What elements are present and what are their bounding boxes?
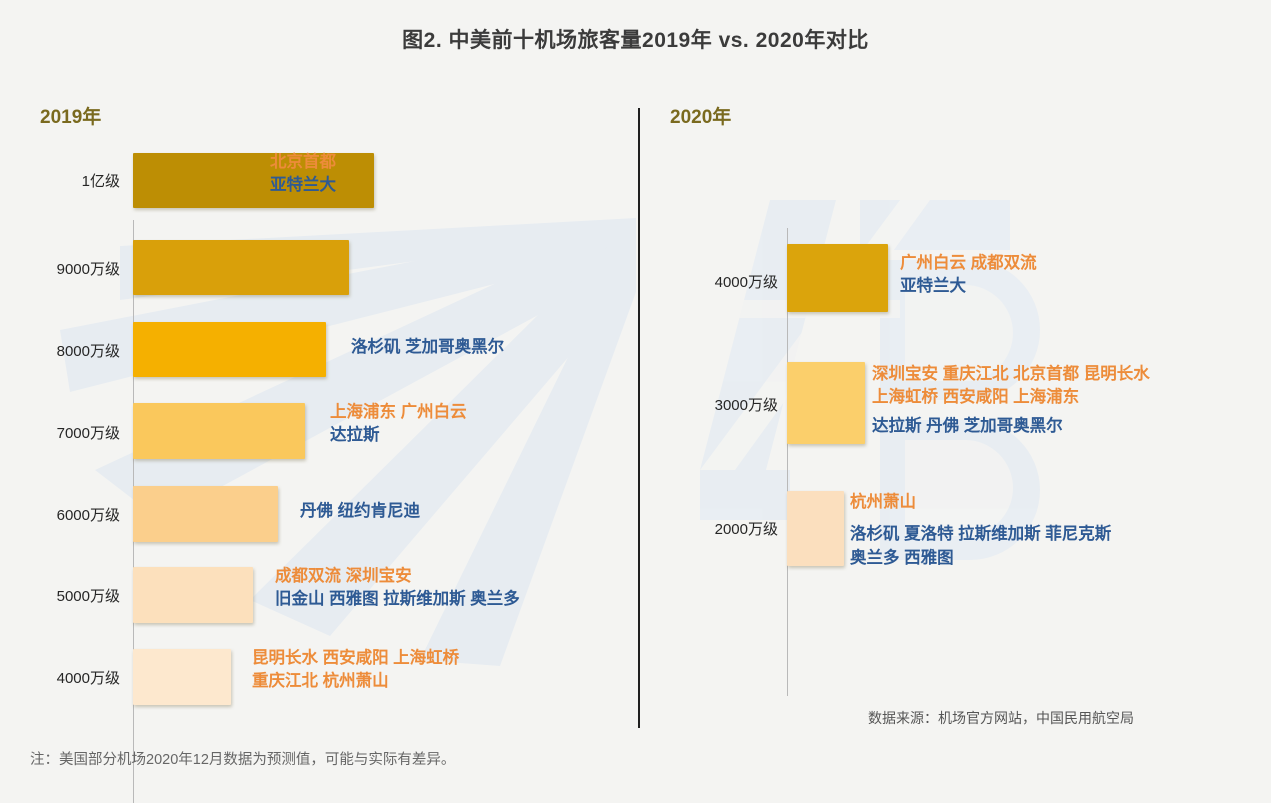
bar xyxy=(133,403,305,459)
airport-line: 旧金山 西雅图 拉斯维加斯 奥兰多 xyxy=(275,588,520,611)
bar xyxy=(133,649,231,705)
airport-names: 洛杉矶 芝加哥奥黑尔 xyxy=(351,336,504,359)
category-label: 2000万级 xyxy=(648,518,778,539)
airport-names: 昆明长水 西安咸阳 上海虹桥 重庆江北 杭州萧山 xyxy=(252,647,459,694)
airport-line: 亚特兰大 xyxy=(900,275,1037,298)
airport-line: 达拉斯 xyxy=(330,424,467,447)
airport-line: 上海虹桥 西安咸阳 上海浦东 xyxy=(872,386,1150,409)
airport-names: 成都双流 深圳宝安 旧金山 西雅图 拉斯维加斯 奥兰多 xyxy=(275,565,520,612)
bar xyxy=(133,486,278,542)
airport-line: 成都双流 深圳宝安 xyxy=(275,565,520,588)
panel-2019-header: 2019年 xyxy=(40,102,101,129)
footnote-label: 注：美国部分机场2020年12月数据为预测值，可能与实际有差异。 xyxy=(30,748,455,769)
airport-line: 达拉斯 丹佛 芝加哥奥黑尔 xyxy=(872,415,1150,438)
airport-line: 昆明长水 西安咸阳 上海虹桥 xyxy=(252,647,459,670)
bar xyxy=(133,567,253,623)
category-label: 5000万级 xyxy=(0,585,120,606)
airport-names: 深圳宝安 重庆江北 北京首都 昆明长水 上海虹桥 西安咸阳 上海浦东 达拉斯 丹… xyxy=(872,363,1150,438)
airport-line: 奥兰多 西雅图 xyxy=(850,547,1111,570)
airport-line: 广州白云 成都双流 xyxy=(900,252,1037,275)
airport-names: 杭州萧山 洛杉矶 夏洛特 拉斯维加斯 菲尼克斯 奥兰多 西雅图 xyxy=(850,491,1111,570)
panel-2019: 2019年 1亿级 北京首都 亚特兰大 9000万级 8000万级 洛杉矶 芝加… xyxy=(0,88,638,728)
airport-line: 深圳宝安 重庆江北 北京首都 昆明长水 xyxy=(872,363,1150,386)
bar xyxy=(787,362,865,444)
airport-line: 丹佛 纽约肯尼迪 xyxy=(300,500,420,523)
airport-line: 洛杉矶 芝加哥奥黑尔 xyxy=(351,336,504,359)
bar xyxy=(787,491,844,566)
bar xyxy=(133,322,326,377)
panel-2020-header: 2020年 xyxy=(670,102,731,129)
category-label: 7000万级 xyxy=(0,422,120,443)
category-label: 6000万级 xyxy=(0,504,120,525)
airport-line: 洛杉矶 夏洛特 拉斯维加斯 菲尼克斯 xyxy=(850,523,1111,546)
category-label: 4000万级 xyxy=(648,271,778,292)
airport-line: 重庆江北 杭州萧山 xyxy=(252,670,459,693)
bar xyxy=(787,244,888,312)
category-label: 9000万级 xyxy=(0,258,120,279)
airport-line: 上海浦东 广州白云 xyxy=(330,401,467,424)
category-label: 3000万级 xyxy=(648,394,778,415)
airport-line: 杭州萧山 xyxy=(850,491,1111,514)
airport-names: 上海浦东 广州白云 达拉斯 xyxy=(330,401,467,448)
airport-names: 北京首都 亚特兰大 xyxy=(270,151,336,198)
category-label: 1亿级 xyxy=(0,170,120,191)
page-title: 图2. 中美前十机场旅客量2019年 vs. 2020年对比 xyxy=(0,24,1271,54)
airport-names: 丹佛 纽约肯尼迪 xyxy=(300,500,420,523)
category-label: 8000万级 xyxy=(0,340,120,361)
airport-names: 广州白云 成都双流 亚特兰大 xyxy=(900,252,1037,299)
bar xyxy=(133,240,349,295)
category-label: 4000万级 xyxy=(0,667,120,688)
data-source-label: 数据来源：机场官方网站，中国民用航空局 xyxy=(868,708,1134,728)
panel-2020: 2020年 4000万级 广州白云 成都双流 亚特兰大 3000万级 深圳宝安 … xyxy=(638,88,1271,728)
airport-line: 亚特兰大 xyxy=(270,174,336,197)
bar xyxy=(133,153,374,208)
airport-line: 北京首都 xyxy=(270,151,336,174)
